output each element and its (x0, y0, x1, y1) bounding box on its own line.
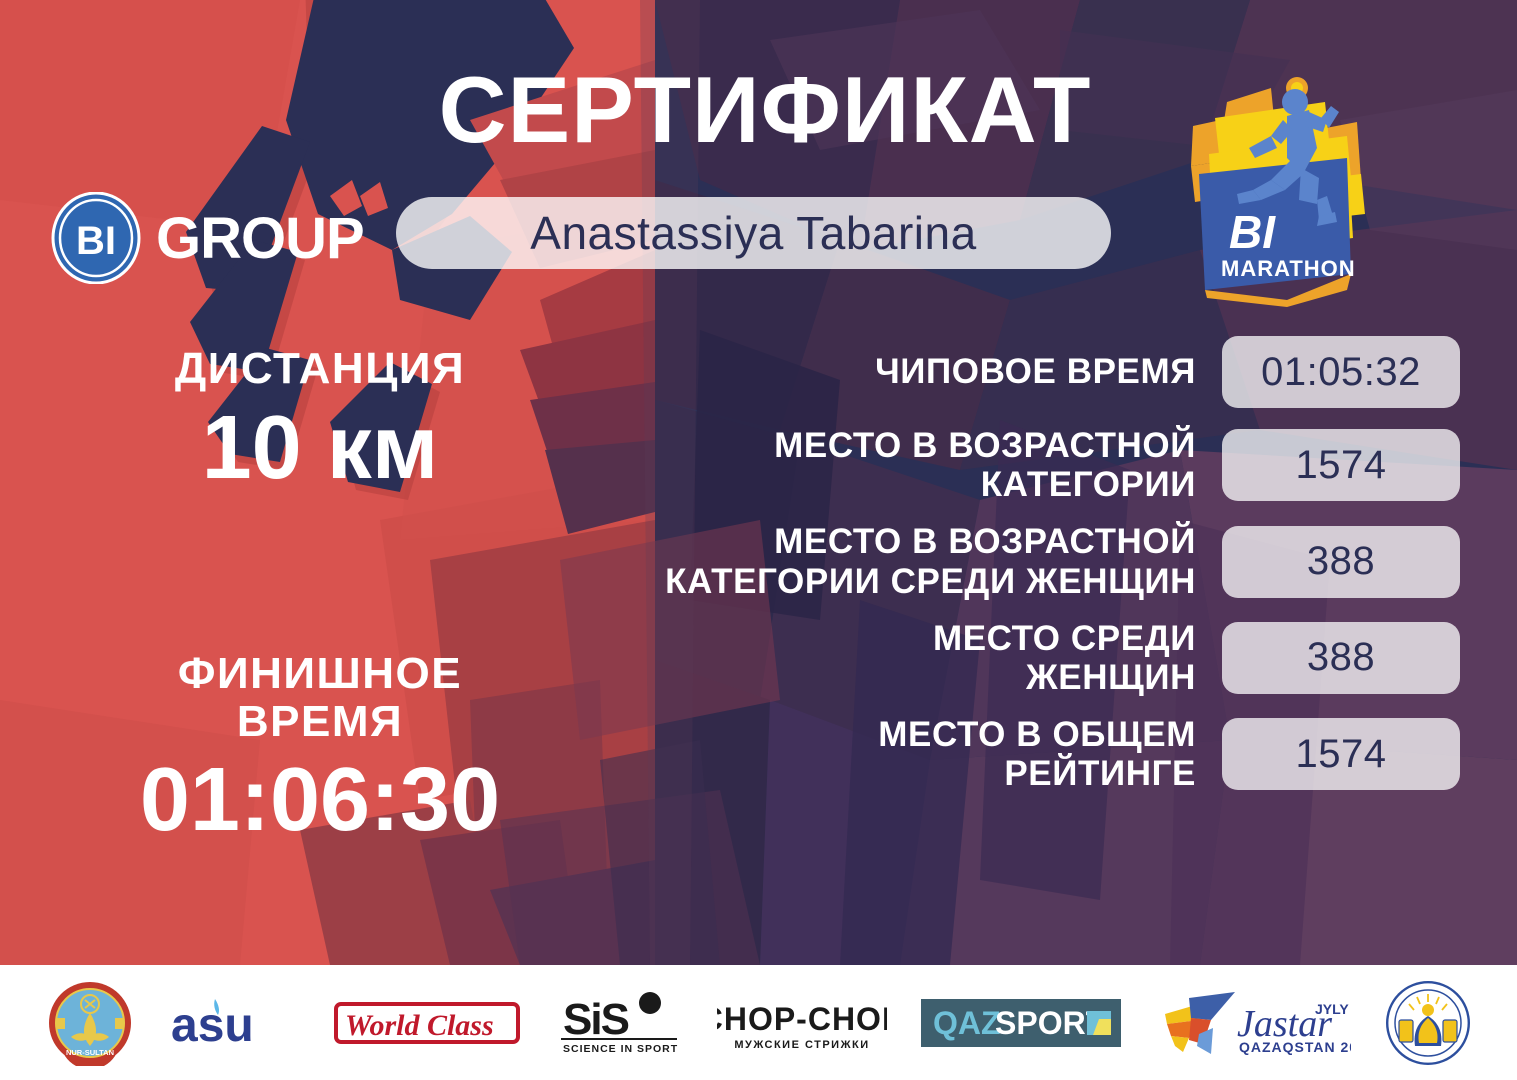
sponsor-sis-text: SiS (563, 995, 629, 1044)
result-label-line1: МЕСТО В ВОЗРАСТНОЙ (520, 522, 1196, 561)
result-value-chip: 388 (1222, 622, 1460, 694)
result-label-line2: КАТЕГОРИИ (520, 465, 1196, 504)
result-label-line1: МЕСТО В ОБЩЕМ (520, 715, 1196, 754)
result-row-overall-place: МЕСТО В ОБЩЕМ РЕЙТИНГЕ 1574 (520, 715, 1460, 793)
result-label: МЕСТО В ВОЗРАСТНОЙ КАТЕГОРИИ СРЕДИ ЖЕНЩИ… (520, 522, 1196, 600)
participant-name-field: Anastassiya Tabarina (396, 197, 1111, 269)
sponsor-jastar-superscript: JYLY (1315, 1001, 1349, 1017)
results-list: ЧИПОВОЕ ВРЕМЯ 01:05:32 МЕСТО В ВОЗРАСТНО… (520, 336, 1460, 794)
sponsor-nur-sultan-text: NUR-SULTAN (65, 1048, 113, 1057)
sponsor-qazsport-logo: QAZ SPORT (921, 984, 1121, 1062)
sponsor-chop-chop-subtext: МУЖСКИЕ СТРИЖКИ (734, 1039, 869, 1051)
result-row-chip-time: ЧИПОВОЕ ВРЕМЯ 01:05:32 (520, 336, 1460, 408)
sponsor-nur-sultan-emblem: NUR-SULTAN (47, 984, 133, 1062)
sponsor-world-class-text: World Class (345, 1009, 494, 1042)
result-value-chip: 01:05:32 (1222, 336, 1460, 408)
bi-group-mark-icon: BI (50, 192, 142, 284)
result-row-age-category-women-place: МЕСТО В ВОЗРАСТНОЙ КАТЕГОРИИ СРЕДИ ЖЕНЩИ… (520, 522, 1460, 600)
result-label-line2: ЖЕНЩИН (520, 658, 1196, 697)
finish-time-caption-line1: ФИНИШНОЕ (40, 650, 600, 698)
sponsor-qazsport-text1: QAZ (933, 1005, 1001, 1041)
sponsor-chop-chop-logo: CHOP-CHOP МУЖСКИЕ СТРИЖКИ (717, 984, 887, 1062)
sponsor-asu-text: asu (171, 999, 254, 1052)
result-label-line1: МЕСТО СРЕДИ (520, 619, 1196, 658)
distance-block: ДИСТАНЦИЯ 10 км (40, 345, 600, 498)
race-certificate: СЕРТИФИКАТ Anastassiya Tabarina BI GROUP (0, 0, 1517, 1080)
result-label: ЧИПОВОЕ ВРЕМЯ (520, 352, 1196, 391)
finish-time-caption-line2: ВРЕМЯ (40, 698, 600, 746)
result-label: МЕСТО В ВОЗРАСТНОЙ КАТЕГОРИИ (520, 426, 1196, 504)
distance-value: 10 км (40, 399, 600, 498)
sponsor-world-class-logo: World Class (333, 984, 521, 1062)
page-title: СЕРТИФИКАТ (395, 62, 1135, 158)
bi-group-logo: BI GROUP (50, 192, 364, 284)
bi-marathon-word-text: MARATHON (1221, 256, 1356, 281)
distance-caption: ДИСТАНЦИЯ (40, 345, 600, 393)
result-row-age-category-place: МЕСТО В ВОЗРАСТНОЙ КАТЕГОРИИ 1574 (520, 426, 1460, 504)
svg-text:BI: BI (76, 219, 116, 263)
result-label: МЕСТО В ОБЩЕМ РЕЙТИНГЕ (520, 715, 1196, 793)
sponsor-chop-chop-text: CHOP-CHOP (717, 1001, 887, 1037)
result-label-line2: РЕЙТИНГЕ (520, 754, 1196, 793)
sponsor-sis-subtext: SCIENCE IN SPORT (563, 1043, 678, 1055)
result-value-chip: 1574 (1222, 429, 1460, 501)
bi-marathon-bi-text: BI (1229, 206, 1276, 258)
bi-group-wordmark: GROUP (156, 205, 364, 272)
result-label-line1: ЧИПОВОЕ ВРЕМЯ (520, 352, 1196, 391)
bi-marathon-logo: BI MARATHON (1175, 62, 1390, 307)
sponsor-jastar-jyly-logo: Jastar JYLY QAZAQSTAN 2019 (1155, 984, 1351, 1062)
sponsor-jastar-subtext: QAZAQSTAN 2019 (1239, 1039, 1351, 1055)
result-label: МЕСТО СРЕДИ ЖЕНЩИН (520, 619, 1196, 697)
result-value-chip: 1574 (1222, 718, 1460, 790)
sponsor-sis-logo: SiS SCIENCE IN SPORT (555, 984, 683, 1062)
result-label-line2: КАТЕГОРИИ СРЕДИ ЖЕНЩИН (520, 562, 1196, 601)
sponsor-asu-logo: asu (167, 984, 299, 1062)
finish-time-value: 01:06:30 (40, 751, 600, 850)
sponsor-band: NUR-SULTAN asu World Class SiS SCIENCE I… (0, 965, 1517, 1080)
result-value-chip: 388 (1222, 526, 1460, 598)
finish-time-block: ФИНИШНОЕ ВРЕМЯ 01:06:30 (40, 650, 600, 850)
participant-name: Anastassiya Tabarina (530, 206, 976, 260)
result-label-line1: МЕСТО В ВОЗРАСТНОЙ (520, 426, 1196, 465)
sponsor-ministry-emblem (1385, 984, 1471, 1062)
bi-marathon-logo-icon: BI MARATHON (1175, 62, 1390, 307)
result-row-women-place: МЕСТО СРЕДИ ЖЕНЩИН 388 (520, 619, 1460, 697)
